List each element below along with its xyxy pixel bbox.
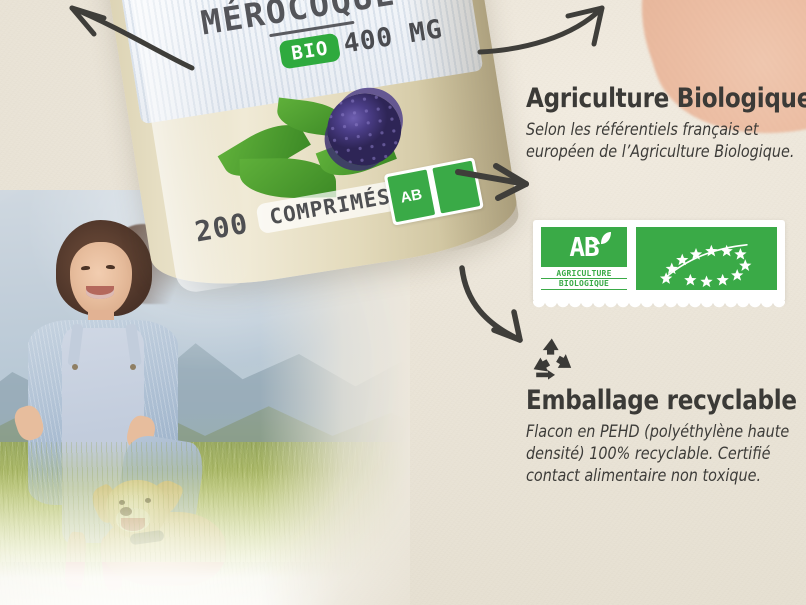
smile <box>86 286 114 299</box>
feature-body: Flacon en PEHD (polyéthylène haute densi… <box>526 422 795 487</box>
ab-logo-mini: AB <box>387 169 435 222</box>
certification-logos: AB AGRICULTURE BIOLOGIQUE <box>533 220 785 302</box>
ab-logo-mark-area: AB <box>541 227 627 267</box>
infographic-stage: MÉROCOQUE BIO 400 MG 200 COMPRIMÉS AB <box>0 0 806 605</box>
ab-caption-line1: AGRICULTURE <box>541 269 627 280</box>
feature-agriculture-biologique: Agriculture Biologique Selon les référen… <box>526 84 806 164</box>
ab-organic-logo: AB AGRICULTURE BIOLOGIQUE <box>541 227 627 290</box>
feature-heading: Emballage recyclable <box>526 386 798 415</box>
ab-caption-line2: BIOLOGIQUE <box>541 279 627 290</box>
overall-button-right <box>130 364 136 370</box>
feature-body: Selon les référentiels français et europ… <box>526 120 795 164</box>
eu-organic-logo <box>636 227 777 290</box>
overall-button-left <box>72 364 78 370</box>
certification-scallop-edge <box>533 301 785 311</box>
ab-logo-caption: AGRICULTURE BIOLOGIQUE <box>541 267 627 291</box>
eye-right <box>106 265 115 270</box>
leaf-icon <box>590 231 612 245</box>
eu-logo-mini <box>432 161 480 214</box>
feature-emballage-recyclable: Emballage recyclable Flacon en PEHD (pol… <box>526 330 806 487</box>
feature-heading: Agriculture Biologique <box>526 84 798 113</box>
euroleaf-icon <box>636 227 777 290</box>
